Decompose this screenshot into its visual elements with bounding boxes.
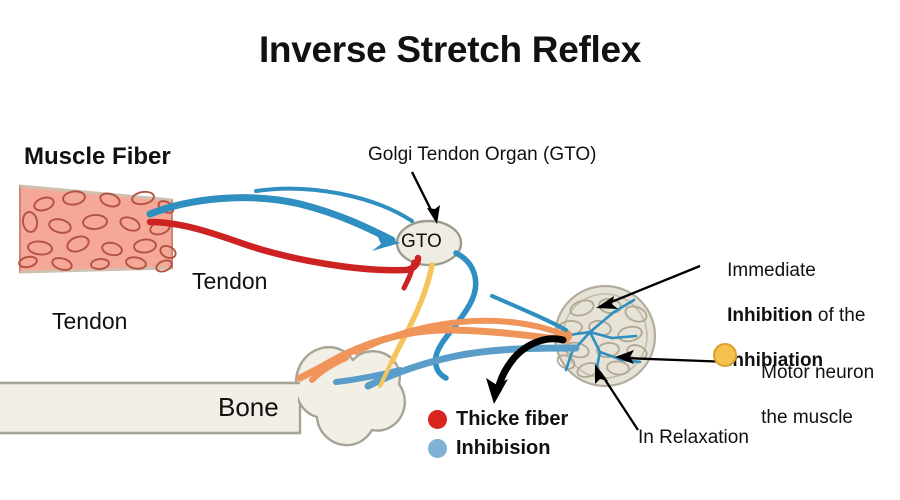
label-tendon-upper: Tendon (192, 268, 267, 295)
legend-dot-thicke-fiber (428, 410, 447, 429)
legend-label-thicke-fiber: Thicke fiber (456, 408, 568, 431)
diagram-canvas: Inverse Stretch Reflex Muscle Fiber Tend… (0, 0, 900, 500)
note-line-2-rest: of the (813, 305, 866, 326)
muscle-fiber-shape (18, 186, 177, 274)
note-motor-neuron: Motor neuron the muscle (740, 340, 874, 452)
fiber-yellow-path (392, 265, 432, 362)
fiber-red-branch (404, 262, 414, 288)
label-bone: Bone (218, 392, 279, 423)
label-gto-oval: GTO (401, 231, 442, 253)
label-golgi-tendon-organ: Golgi Tendon Organ (GTO) (368, 144, 596, 166)
page-title: Inverse Stretch Reflex (0, 28, 900, 72)
legend-item-inhibision: Inhibision (428, 437, 550, 460)
motor-neuron-dot-icon (712, 342, 738, 368)
spinal-cord-cross-section (555, 286, 655, 386)
label-muscle-fiber: Muscle Fiber (24, 143, 171, 171)
legend-label-inhibision: Inhibision (456, 437, 550, 460)
label-tendon-lower: Tendon (52, 308, 127, 335)
fiber-blue-arrow-path (150, 198, 392, 240)
motor-neuron-line-2: the muscle (761, 407, 853, 428)
note-line-1: Immediate (727, 260, 816, 281)
legend-item-thicke-fiber: Thicke fiber (428, 408, 568, 431)
note-line-2-bold: Inhibition (727, 305, 812, 326)
label-in-relaxation: In Relaxation (638, 427, 749, 449)
motor-neuron-line-1: Motor neuron (761, 362, 874, 383)
legend-dot-inhibision (428, 439, 447, 458)
